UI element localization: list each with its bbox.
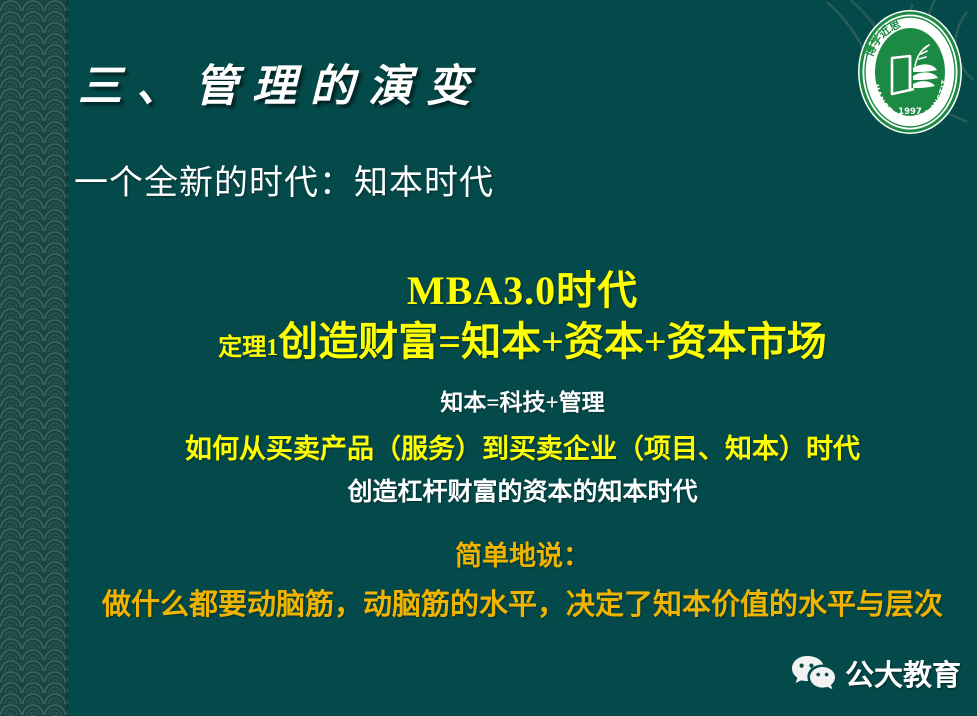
note-era-transition: 如何从买卖产品（服务）到买卖企业（项目、知本）时代 [68, 427, 977, 466]
theorem-formula: 创造财富=知本+资本+资本市场 [278, 319, 826, 364]
theorem-line: 定理1创造财富=知本+资本+资本市场 [68, 320, 977, 365]
closing-text-block: 简单地说： 做什么都要动脑筋，动脑筋的水平，决定了知本价值的水平与层次 [68, 534, 977, 623]
slide-content: 三、管理的演变 一个全新的时代：知本时代 MBA3.0时代 定理1创造财富=知本… [68, 0, 977, 716]
theorem-label: 定理1 [218, 335, 278, 361]
wechat-icon [791, 654, 835, 692]
closing-statement: 做什么都要动脑筋，动脑筋的水平，决定了知本价值的水平与层次 [68, 581, 977, 623]
watermark: 公大教育 [791, 652, 961, 694]
page-title: 三、管理的演变 [78, 50, 484, 114]
body-text-block: MBA3.0时代 定理1创造财富=知本+资本+资本市场 知本=科技+管理 如何从… [68, 268, 977, 508]
closing-lead: 简单地说： [68, 534, 977, 573]
institute-logo-icon: 博学近思 HANGZHOU ERA INSTITUTE 1997 [851, 2, 969, 138]
presentation-slide: 三、管理的演变 一个全新的时代：知本时代 MBA3.0时代 定理1创造财富=知本… [0, 0, 977, 716]
institute-logo: 博学近思 HANGZHOU ERA INSTITUTE 1997 [851, 2, 969, 138]
note-knowledge-capital-definition: 知本=科技+管理 [68, 383, 977, 417]
slide-subtitle: 一个全新的时代：知本时代 [74, 155, 494, 204]
note-leverage-wealth: 创造杠杆财富的资本的知本时代 [68, 472, 977, 508]
headline-mba30: MBA3.0时代 [68, 268, 977, 314]
decorative-sidebar-pattern [0, 0, 68, 716]
watermark-label: 公大教育 [845, 652, 961, 694]
logo-year: 1997 [898, 107, 922, 117]
